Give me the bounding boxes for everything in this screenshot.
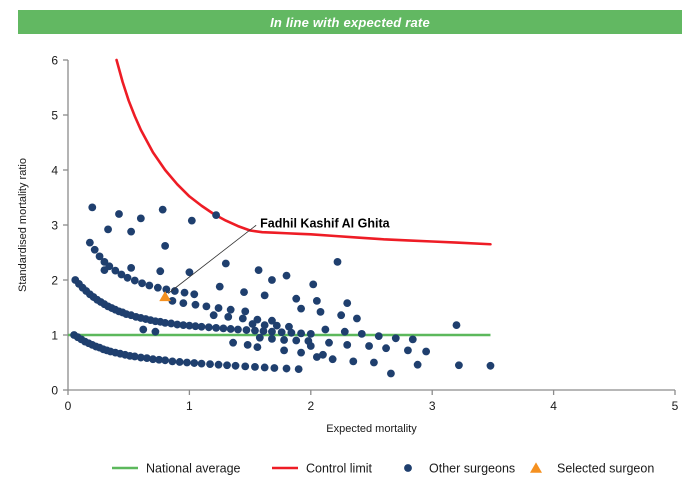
other-surgeon-point [219,325,227,333]
other-surgeon-point [212,211,220,219]
other-surgeon-point [192,301,200,309]
other-surgeon-point [206,360,214,368]
other-surgeon-point [387,370,395,378]
other-surgeon-point [349,358,357,366]
other-surgeon-point [203,303,211,311]
other-surgeon-point [365,342,373,350]
other-surgeon-point [280,347,288,355]
y-tick-label: 0 [51,384,58,398]
other-surgeon-point [249,320,257,328]
other-surgeon-point [210,311,218,319]
other-surgeon-point [321,326,329,334]
y-tick-label: 3 [51,219,58,233]
other-surgeon-point [251,363,259,371]
other-surgeon-point [273,322,281,330]
y-axis-title: Standardised mortality ratio [17,158,29,292]
other-surgeon-point [244,341,252,349]
other-surgeon-point [232,362,240,370]
other-surgeon-point [307,330,315,338]
other-surgeon-point [297,329,305,337]
annotation-leader-line [168,225,256,293]
other-surgeon-point [487,362,495,370]
annotation-label: Fadhil Kashif Al Ghita [260,216,390,230]
other-surgeon-point [382,344,390,352]
x-tick-label: 1 [186,399,193,413]
axes-group: 0123456012345Expected mortalityStandardi… [17,54,679,436]
legend-label: Other surgeons [429,462,515,476]
legend-marker-triangle [530,462,542,472]
other-surgeon-point [297,305,305,313]
other-surgeon-point [404,347,412,355]
other-surgeon-point [370,359,378,367]
other-surgeon-point [205,323,213,331]
y-tick-label: 6 [51,54,58,68]
legend-label: Control limit [306,462,373,476]
legend-label: National average [146,462,241,476]
other-surgeon-point [240,288,248,296]
other-surgeon-point [292,295,300,303]
other-surgeon-point [317,308,325,316]
other-surgeon-point [169,358,177,366]
other-surgeon-point [353,315,361,323]
other-surgeon-point [337,311,345,319]
other-surgeon-point [268,335,276,343]
other-surgeon-point [268,328,276,336]
other-surgeon-point [422,348,430,356]
other-surgeon-point [190,359,198,367]
x-tick-label: 5 [672,399,679,413]
other-surgeon-point [283,365,291,373]
chart-legend: National averageControl limitOther surge… [112,462,654,476]
other-surgeon-point [176,358,184,366]
legend-label: Selected surgeon [557,462,654,476]
other-surgeon-point [101,266,109,274]
other-surgeon-point [124,274,132,282]
other-surgeon-point [256,334,264,342]
annotation-group: Fadhil Kashif Al Ghita [159,216,390,301]
other-surgeon-point [127,264,135,272]
other-surgeon-point [88,204,96,212]
other-surgeon-point [334,258,342,266]
other-surgeon-point [181,289,189,297]
other-surgeon-point [139,326,147,334]
other-surgeon-point [329,355,337,363]
other-surgeon-point [115,210,123,218]
other-surgeon-point [145,282,153,290]
other-surgeon-point [241,362,249,370]
x-tick-label: 4 [550,399,557,413]
other-surgeon-point [138,279,146,287]
other-surgeon-point [229,339,237,347]
other-surgeon-point [253,343,261,351]
other-surgeon-point [280,336,288,344]
other-surgeon-point [223,361,231,369]
other-surgeon-point [188,217,196,225]
other-surgeon-point [392,334,400,342]
other-surgeon-point [278,328,286,336]
other-surgeon-point [162,285,170,293]
other-surgeon-point [261,321,269,329]
other-surgeon-point [319,351,327,359]
other-surgeon-point [152,328,160,336]
other-surgeon-point [414,361,422,369]
chart-canvas: 0123456012345Expected mortalityStandardi… [0,0,700,500]
other-surgeon-point [343,299,351,307]
other-surgeon-point [270,364,278,372]
other-surgeon-point [241,307,249,315]
other-surgeon-point [183,359,191,367]
other-surgeon-point [358,330,366,338]
other-surgeon-point [86,239,94,247]
other-surgeon-point [313,297,321,305]
y-tick-label: 2 [51,274,58,288]
other-surgeon-point [179,299,187,307]
funnel-plot-figure: In line with expected rate 0123456012345… [0,0,700,500]
other-surgeon-point [190,290,198,298]
other-surgeon-point [343,341,351,349]
other-surgeon-point [131,277,139,285]
other-surgeon-point [297,349,305,357]
other-surgeon-point [156,267,164,275]
other-surgeon-point [375,332,383,340]
other-surgeon-point [239,315,247,323]
other-surgeon-point [309,281,317,289]
other-surgeon-point [154,284,162,292]
other-surgeon-point [227,306,235,314]
x-axis-title: Expected mortality [326,423,417,435]
other-surgeon-point [409,336,417,344]
other-surgeon-point [215,304,223,312]
other-surgeon-point [234,326,242,334]
other-surgeon-point [216,283,224,291]
other-surgeon-point [137,215,145,223]
other-surgeon-point [283,272,291,280]
other-surgeon-point [91,246,99,254]
x-tick-label: 2 [307,399,314,413]
other-surgeon-point [341,328,349,336]
y-tick-label: 5 [51,109,58,123]
other-surgeon-point [295,365,303,373]
x-tick-label: 3 [429,399,436,413]
other-surgeon-point [453,321,461,329]
other-surgeon-point [261,364,269,372]
other-surgeon-point [215,361,223,369]
other-surgeon-point [292,337,300,345]
y-tick-label: 4 [51,164,58,178]
other-surgeon-point [161,356,169,364]
other-surgeon-point [104,226,112,234]
other-surgeon-point [222,260,230,268]
other-surgeon-point [255,266,263,274]
other-surgeon-point [243,326,251,334]
other-surgeon-point [261,292,269,300]
other-surgeon-point [161,242,169,250]
other-surgeon-point [227,325,235,333]
other-surgeon-point [159,206,167,214]
other-surgeon-point [455,361,463,369]
other-surgeon-point [325,339,333,347]
other-surgeon-point [212,324,220,332]
other-surgeon-point [127,228,135,236]
other-surgeon-point [224,313,232,321]
y-tick-label: 1 [51,329,58,343]
other-surgeon-point [198,360,206,368]
other-surgeon-point [268,276,276,284]
other-surgeon-point [307,342,315,350]
other-surgeon-point [285,323,293,331]
other-surgeon-point [198,323,206,331]
legend-marker-circle [404,464,412,472]
x-tick-label: 0 [65,399,72,413]
